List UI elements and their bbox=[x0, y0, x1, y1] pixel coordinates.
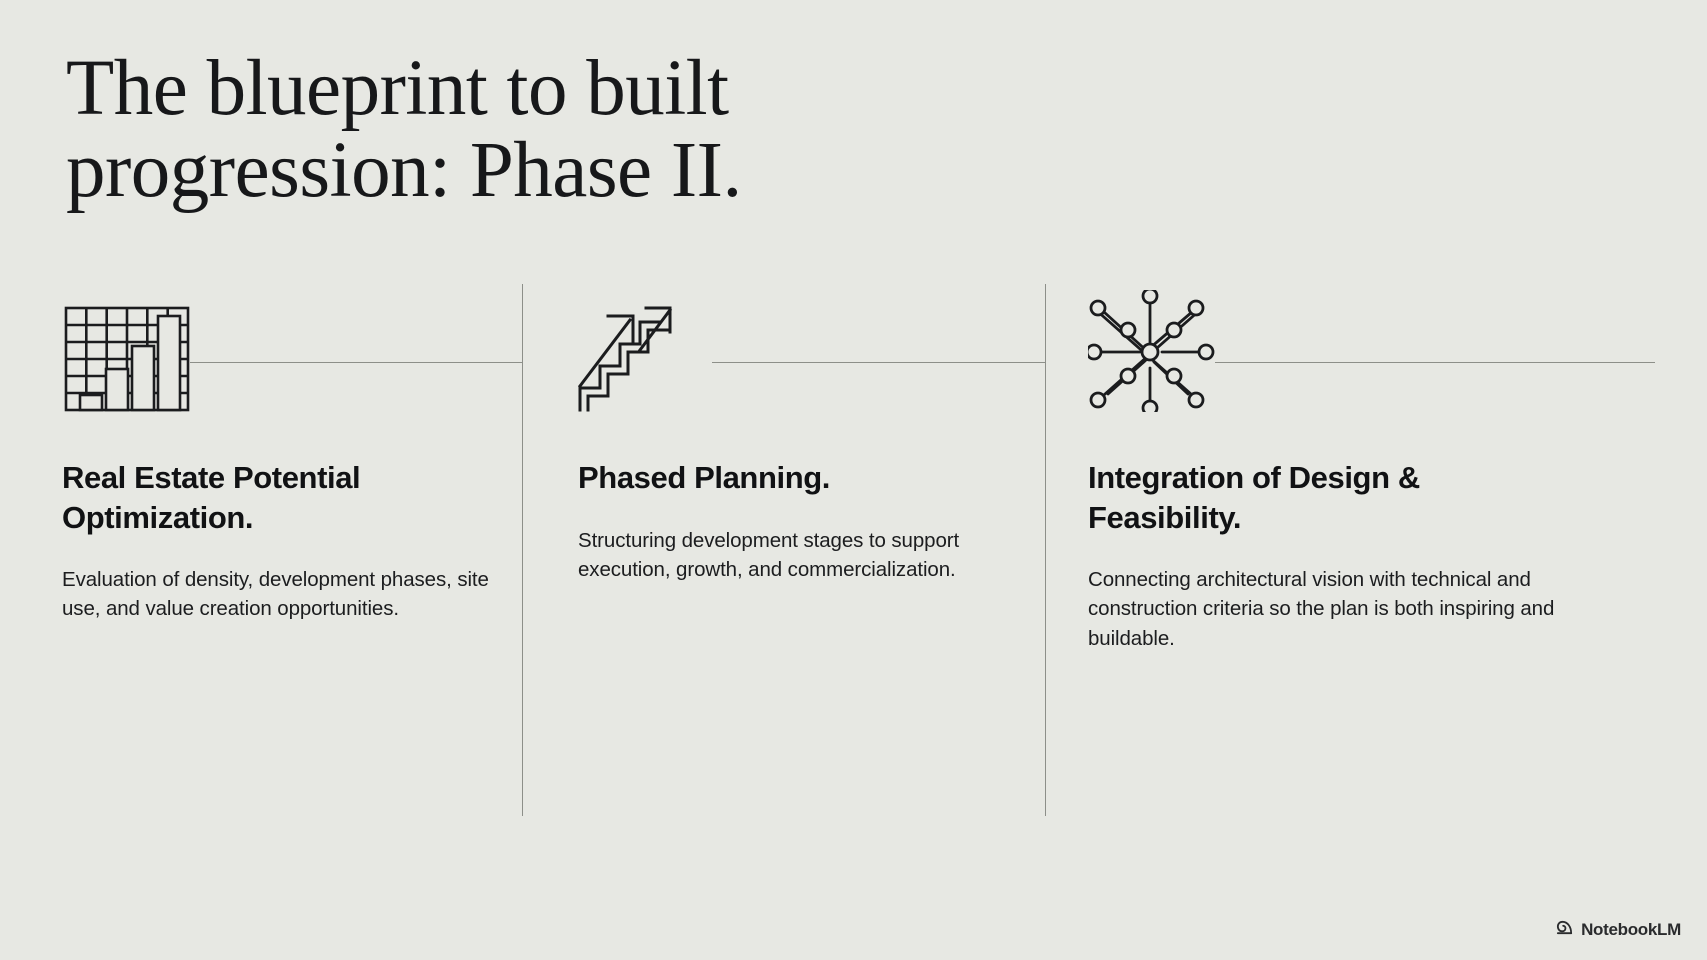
feature-body-2: Structuring development stages to suppor… bbox=[578, 526, 1018, 584]
feature-heading-2: Phased Planning. bbox=[578, 458, 1018, 498]
notebooklm-label: NotebookLM bbox=[1581, 920, 1681, 940]
slide-canvas: The blueprint to built progression: Phas… bbox=[0, 0, 1707, 960]
bar-chart-grid-icon bbox=[62, 290, 192, 420]
feature-heading-3: Integration of Design & Feasibility. bbox=[1088, 458, 1558, 537]
feature-body-1: Evaluation of density, development phase… bbox=[62, 565, 502, 623]
feature-body-3: Connecting architectural vision with tec… bbox=[1088, 565, 1558, 652]
feature-column-1: Real Estate Potential Optimization. Eval… bbox=[62, 290, 502, 624]
feature-column-2: Phased Planning. Structuring development… bbox=[578, 290, 1018, 584]
footer-branding: NotebookLM bbox=[1555, 918, 1681, 942]
network-nodes-icon bbox=[1088, 290, 1218, 420]
feature-heading-1: Real Estate Potential Optimization. bbox=[62, 458, 502, 537]
notebooklm-spiral-icon bbox=[1555, 918, 1574, 942]
columns-container: Real Estate Potential Optimization. Eval… bbox=[0, 0, 1707, 960]
feature-column-3: Integration of Design & Feasibility. Con… bbox=[1088, 290, 1558, 653]
staircase-growth-arrows-icon bbox=[578, 290, 708, 420]
